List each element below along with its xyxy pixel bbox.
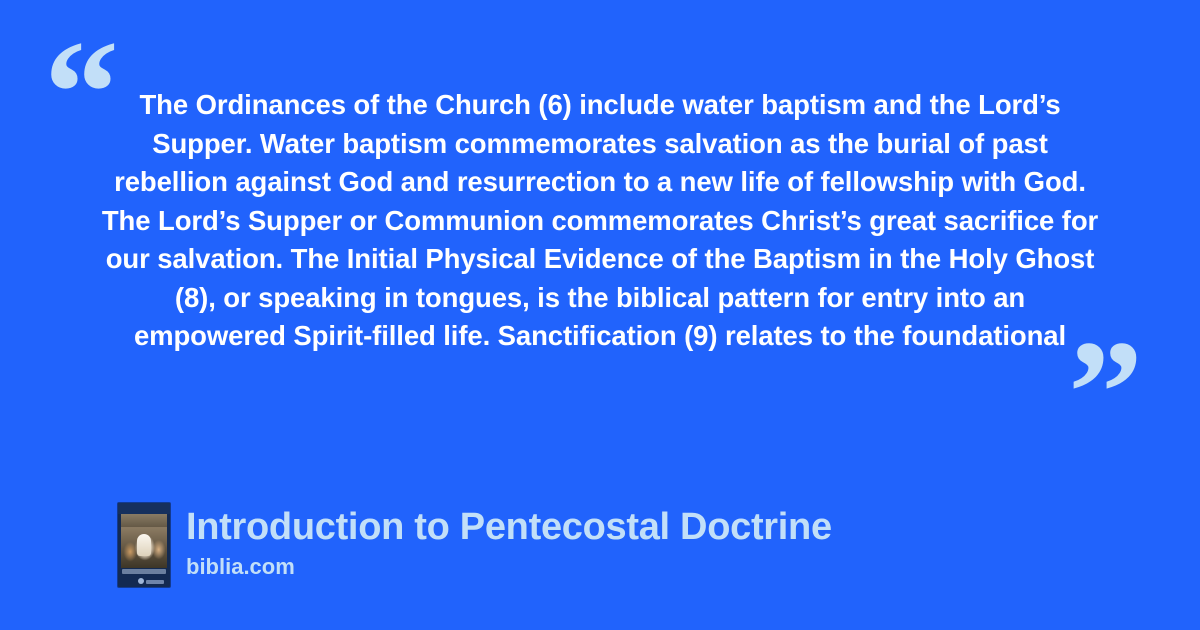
book-cover-artwork bbox=[121, 514, 167, 568]
book-cover-title-bar bbox=[122, 569, 166, 574]
closing-quote-icon: ” bbox=[1068, 318, 1143, 468]
source-title: Introduction to Pentecostal Doctrine bbox=[186, 505, 832, 549]
quote-card: “ The Ordinances of the Church (6) inclu… bbox=[0, 0, 1200, 630]
book-cover-publisher-mark bbox=[138, 578, 144, 584]
book-cover-icon bbox=[118, 503, 170, 587]
source-text-group: Introduction to Pentecostal Doctrine bib… bbox=[186, 503, 832, 581]
book-cover-top-band bbox=[118, 503, 170, 514]
source-site: biblia.com bbox=[186, 553, 832, 581]
book-cover-publisher-text bbox=[146, 580, 164, 584]
quote-text: The Ordinances of the Church (6) include… bbox=[100, 86, 1100, 356]
source-attribution: Introduction to Pentecostal Doctrine bib… bbox=[118, 503, 832, 587]
